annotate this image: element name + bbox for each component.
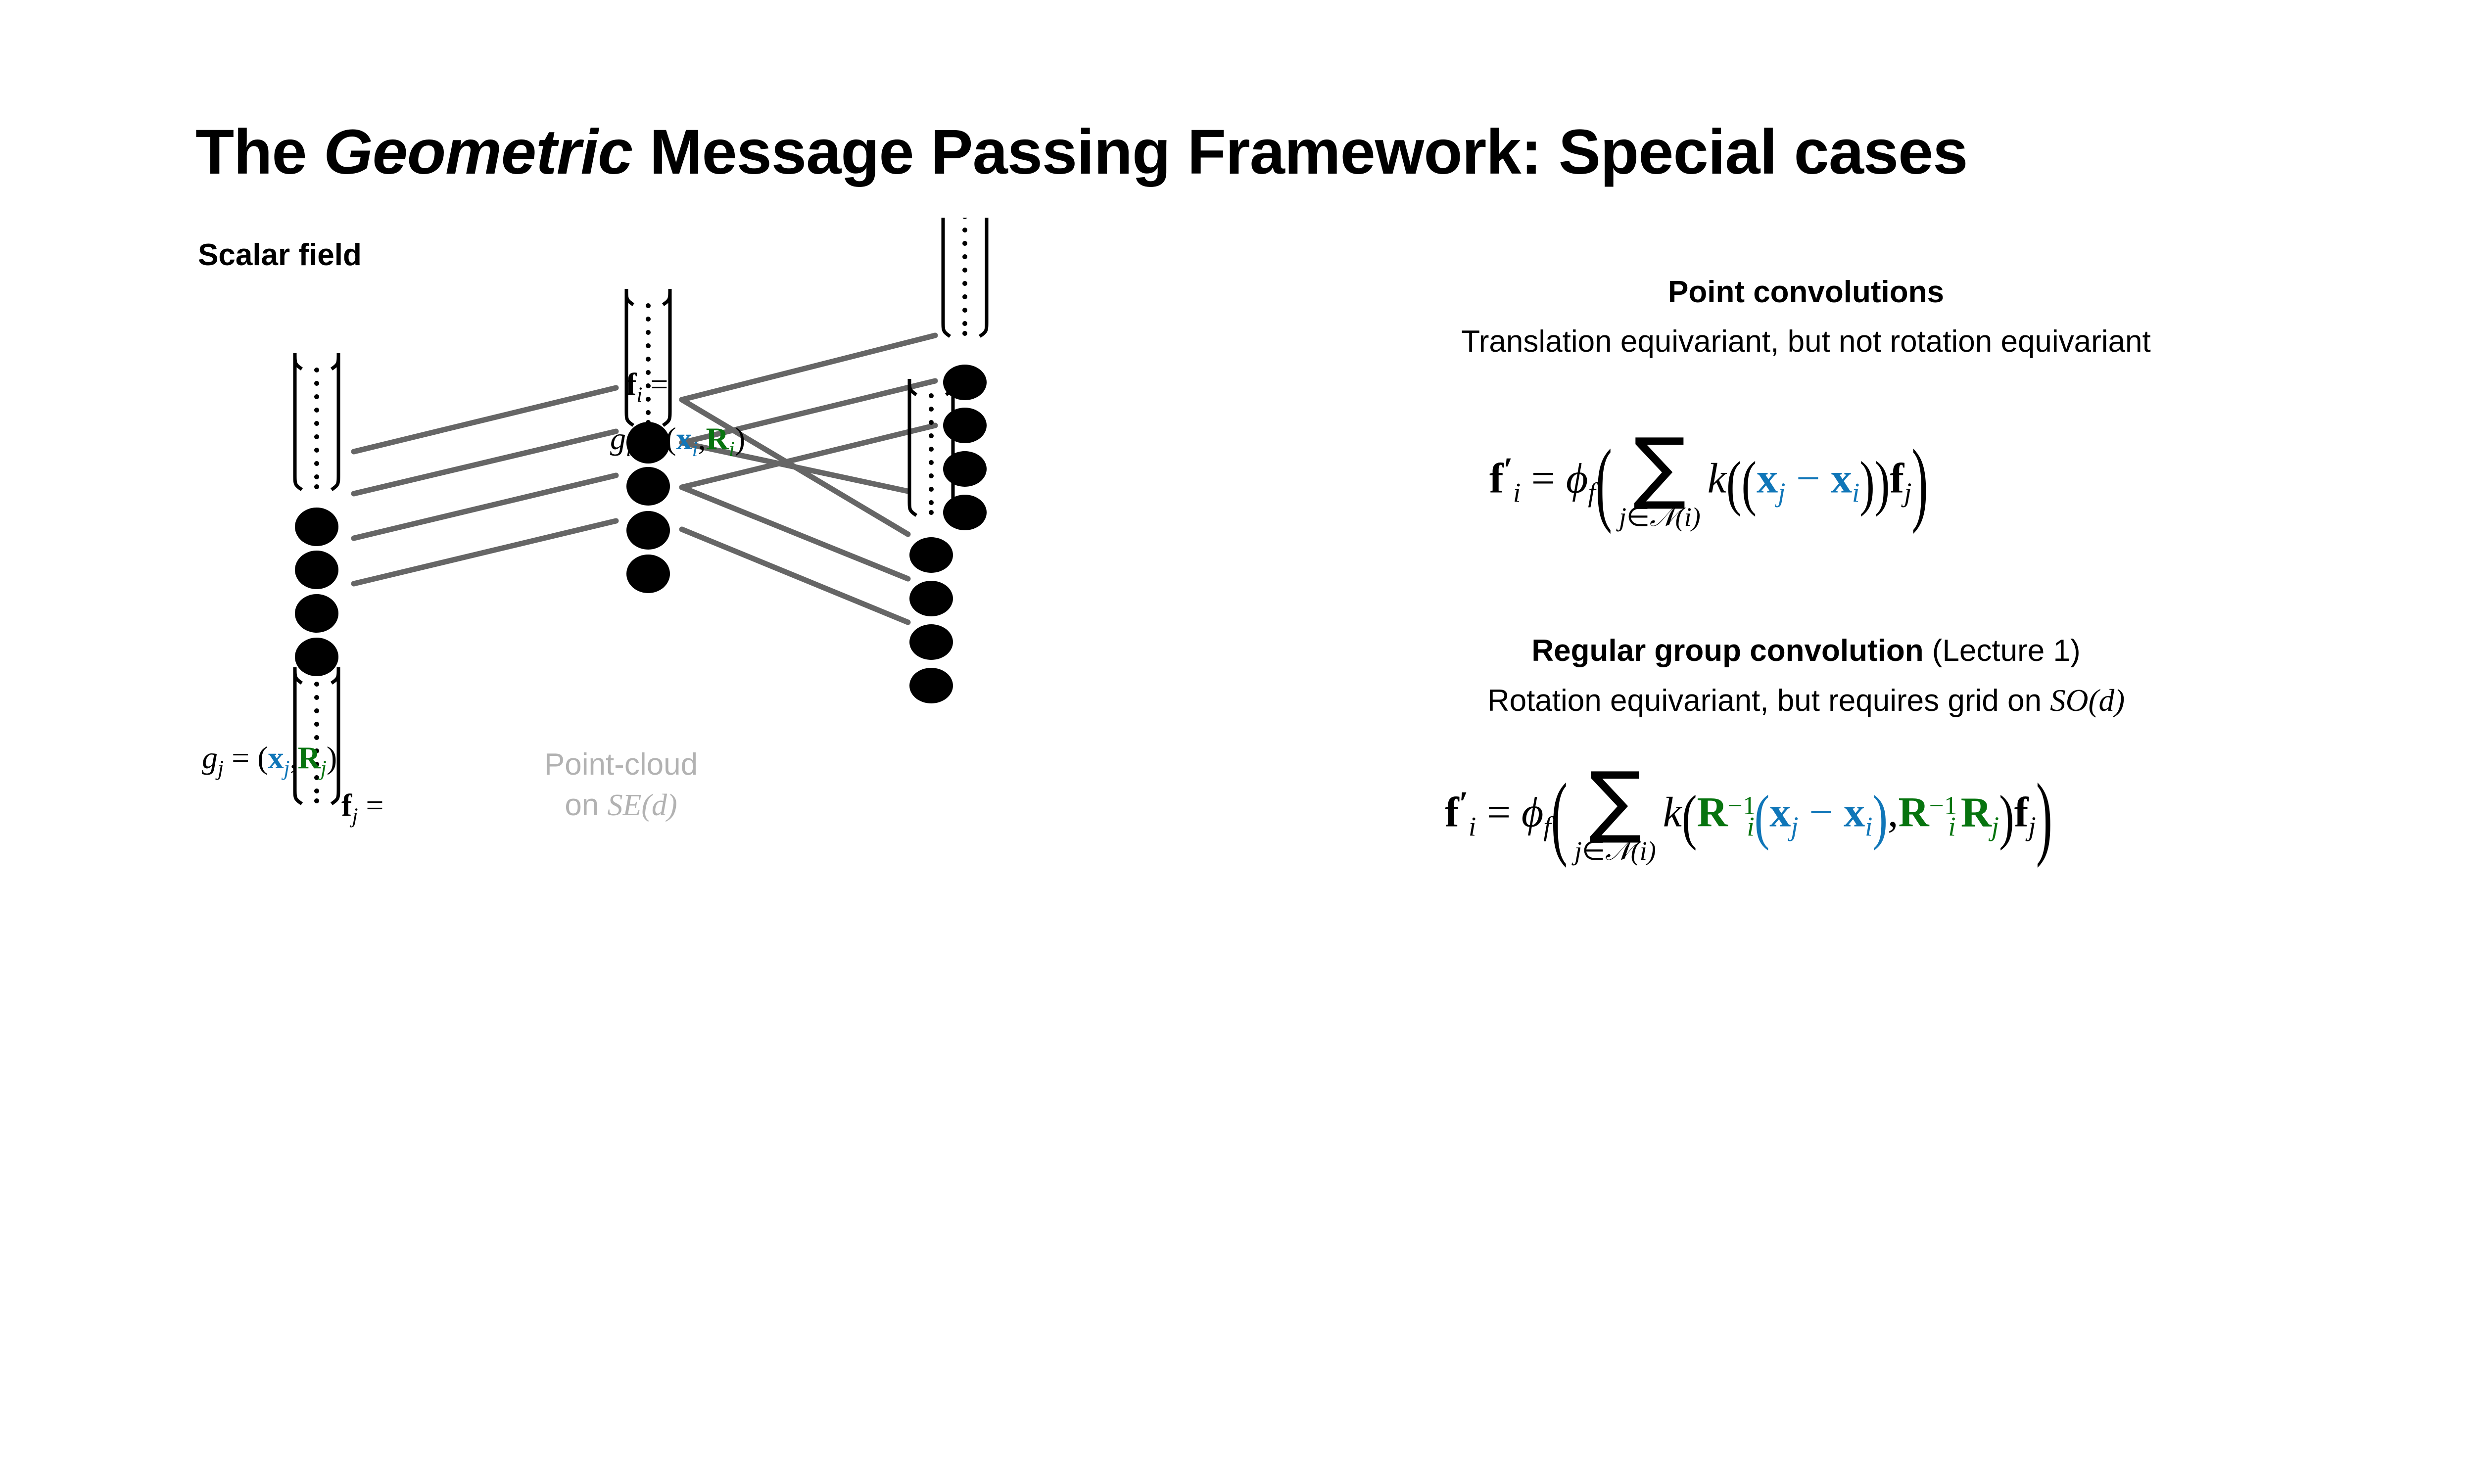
edge-group-middle-right: [682, 335, 935, 622]
label-g-i: gi = (xi,Ri): [610, 423, 745, 460]
graph-node: [909, 668, 953, 703]
node-group: [909, 537, 953, 703]
caption-line-2: on SE(d): [522, 785, 720, 826]
graph-node: [626, 467, 670, 506]
caption-line-1: Point-cloud: [522, 744, 720, 785]
title-text-part1: The: [195, 117, 324, 187]
graph-node: [943, 451, 987, 487]
vector-bracket: [943, 218, 987, 336]
edge-line: [682, 487, 908, 579]
title-text-part2: Message Passing Framework: Special cases: [632, 117, 1967, 187]
point-cloud-caption: Point-cloud on SE(d): [522, 744, 720, 826]
rg-title-rest: (Lecture 1): [1924, 634, 2081, 668]
vector-bracket: [909, 379, 953, 515]
summation-symbol: ∑j∈𝒩(i): [1619, 435, 1701, 530]
vector-ellipsis: [962, 218, 967, 336]
graph-node: [909, 581, 953, 616]
edge-line: [682, 529, 908, 622]
vector-bracket: [295, 667, 338, 804]
vector-ellipsis: [646, 303, 651, 425]
regular-group-conv-subtitle: Rotation equivariant, but requires grid …: [1183, 683, 2429, 719]
edge-group-left-middle: [354, 388, 616, 584]
left-column-group: [295, 353, 338, 804]
graph-node: [909, 537, 953, 573]
point-convolutions-title: Point convolutions: [1183, 275, 2429, 310]
graph-node: [295, 551, 338, 589]
summation-limit: j∈𝒩(i): [1619, 504, 1701, 530]
rg-title-bold: Regular group convolution: [1531, 634, 1923, 668]
graph-node: [909, 624, 953, 660]
node-group: [295, 508, 338, 676]
graph-node: [943, 365, 987, 400]
label-f-j: fj =: [341, 789, 384, 827]
vector-ellipsis: [314, 368, 319, 489]
point-convolutions-subtitle: Translation equivariant, but not rotatio…: [1183, 324, 2429, 359]
graph-node: [295, 508, 338, 546]
graph-node: [295, 594, 338, 633]
point-convolution-formula: f′i = ϕf(∑j∈𝒩(i)k((xj − xi))fj ): [1489, 435, 1928, 530]
label-g-j: gj = (xj,Rj): [202, 742, 337, 779]
summation-symbol: ∑j∈𝒩(i): [1574, 769, 1656, 864]
summation-limit: j∈𝒩(i): [1574, 837, 1656, 864]
title-text-italic: Geometric: [324, 117, 632, 187]
regular-group-conv-title: Regular group convolution (Lecture 1): [1183, 633, 2429, 668]
right-column-upper-group: [943, 218, 987, 530]
graph-node: [626, 555, 670, 593]
regular-group-convolution-formula: f′i = ϕf(∑j∈𝒩(i)k(R−1i(xj − xi),R−1iRj)f…: [1445, 769, 2052, 864]
label-f-i: fi =: [626, 369, 668, 406]
graph-node: [295, 638, 338, 676]
page-title: The Geometric Message Passing Framework:…: [195, 118, 1967, 187]
node-group: [943, 365, 987, 530]
graph-node: [943, 408, 987, 443]
graph-node: [626, 511, 670, 550]
vector-ellipsis: [929, 393, 934, 515]
vector-bracket: [295, 353, 338, 490]
